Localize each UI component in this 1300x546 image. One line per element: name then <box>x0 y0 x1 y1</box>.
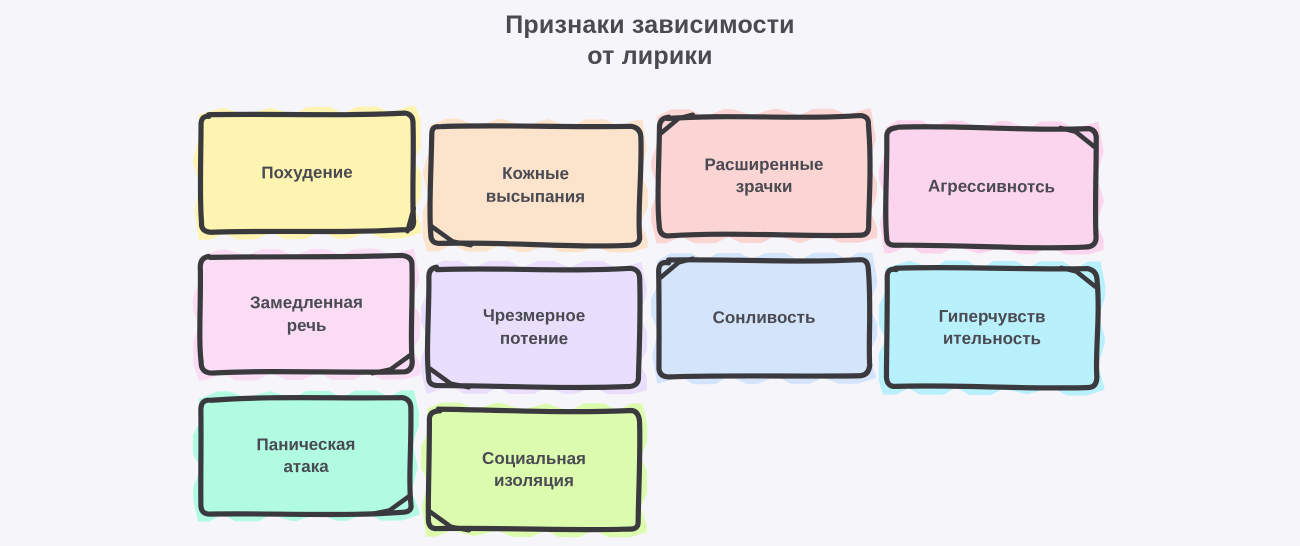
poster-canvas: Признаки зависимости от лирики Похудение… <box>0 0 1300 546</box>
symptom-card[interactable]: Сонливость <box>660 262 868 376</box>
symptom-card[interactable]: Замедленная речь <box>202 257 412 371</box>
card-label: Социальная изоляция <box>472 447 596 492</box>
card-label: Похудение <box>251 161 362 184</box>
symptom-card[interactable]: Чрезмерное потение <box>430 270 638 386</box>
card-label: Сонливость <box>703 307 826 330</box>
symptom-card[interactable]: Расширенные зрачки <box>660 118 868 235</box>
symptom-card[interactable]: Кожные высыпания <box>432 127 640 243</box>
symptom-card[interactable]: Похудение <box>202 115 413 230</box>
card-label: Паническая атака <box>246 433 365 478</box>
card-label: Чрезмерное потение <box>473 305 595 350</box>
card-label: Агрессивнотсь <box>918 176 1065 199</box>
card-label: Расширенные зрачки <box>694 153 833 198</box>
symptom-card-grid: ПохудениеКожные высыпанияРасширенные зра… <box>0 0 1300 546</box>
symptom-card[interactable]: Агрессивнотсь <box>888 129 1096 245</box>
symptom-card[interactable]: Паническая атака <box>202 399 411 512</box>
card-label: Замедленная речь <box>240 292 373 338</box>
symptom-card[interactable]: Гиперчувств ительность <box>888 269 1097 386</box>
symptom-card[interactable]: Социальная изоляция <box>430 412 638 529</box>
card-label: Кожные высыпания <box>476 163 596 208</box>
card-label: Гиперчувств ительность <box>928 305 1055 351</box>
